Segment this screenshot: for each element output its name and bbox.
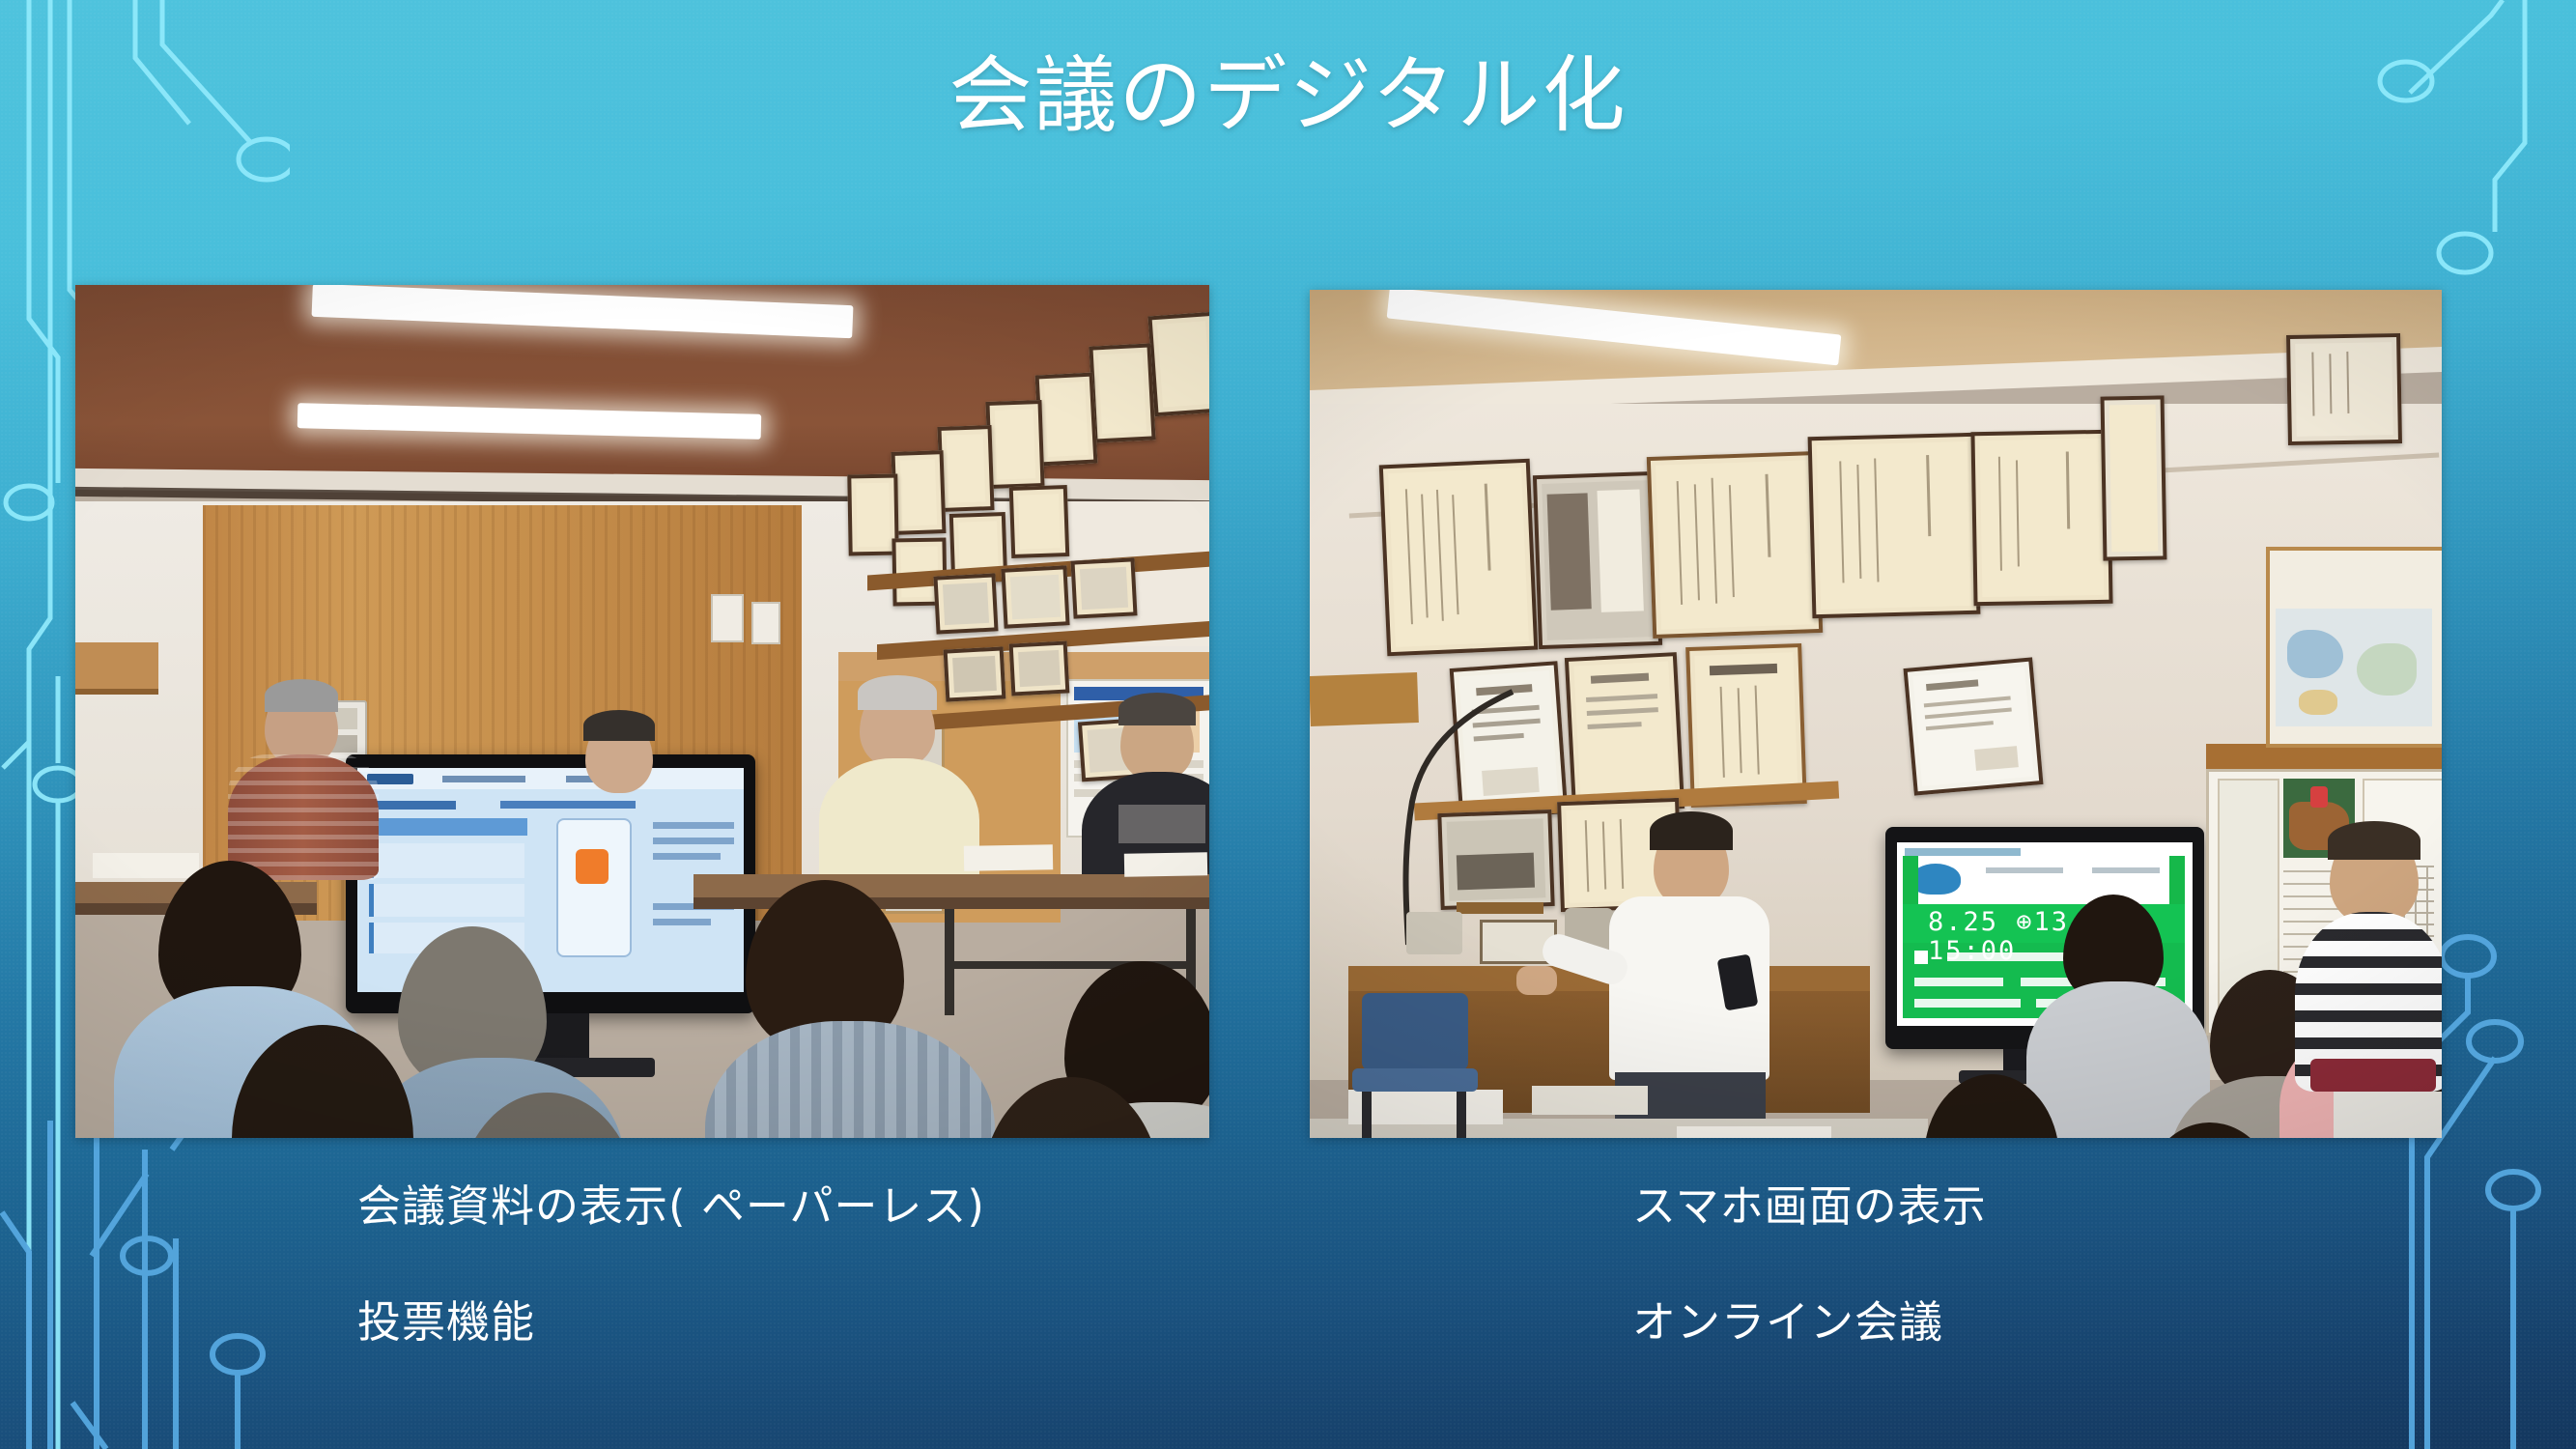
caption-left-1: 会議資料の表示( ペーパーレス)	[357, 1171, 985, 1234]
caption-right-1: スマホ画面の表示	[1632, 1171, 1987, 1234]
page-title: 会議のデジタル化	[0, 27, 2576, 148]
caption-right-2: オンライン会議	[1632, 1287, 1943, 1350]
presentation-slide: 会議のデジタル化	[0, 0, 2576, 1449]
caption-left-2: 投票機能	[357, 1287, 535, 1350]
meeting-photo-right: 8.25 ⊕13:00〜15:00	[1310, 290, 2442, 1138]
meeting-photo-left	[75, 285, 1209, 1138]
